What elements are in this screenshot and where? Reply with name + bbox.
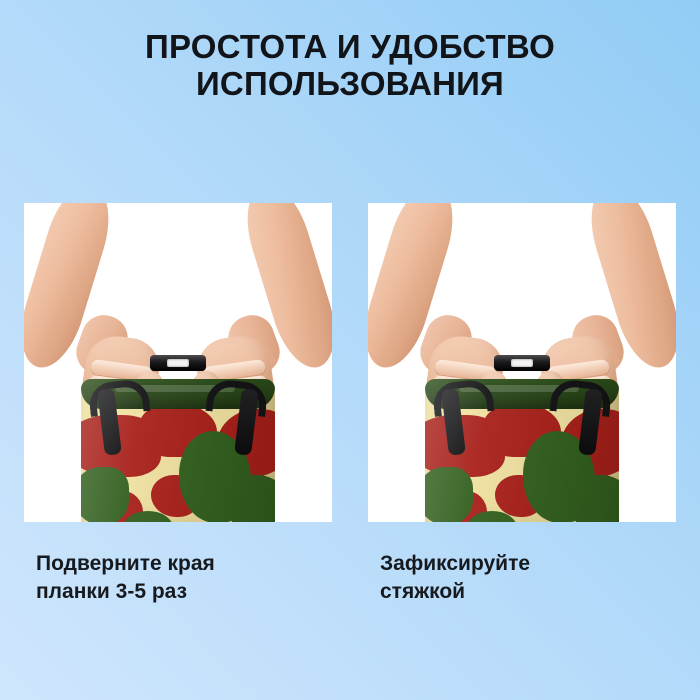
product-photo-step-2 xyxy=(368,203,676,522)
photo-panel-group xyxy=(24,203,676,522)
caption-step-2: Зафиксируйте стяжкой xyxy=(368,550,676,606)
page-title-line-1: ПРОСТОТА И УДОБСТВО xyxy=(0,28,700,65)
caption-step-1: Подверните края планки 3-5 раз xyxy=(24,550,332,606)
page-title-line-2: ИСПОЛЬЗОВАНИЯ xyxy=(0,65,700,102)
buckle-female-icon xyxy=(158,355,206,371)
dry-bag-product xyxy=(81,379,275,522)
dry-bag-product xyxy=(425,379,619,522)
infographic-canvas: ПРОСТОТА И УДОБСТВО ИСПОЛЬЗОВАНИЯ xyxy=(0,0,700,700)
buckle-female-icon xyxy=(502,355,550,371)
page-title: ПРОСТОТА И УДОБСТВО ИСПОЛЬЗОВАНИЯ xyxy=(0,28,700,103)
caption-step-1-line-2: планки 3-5 раз xyxy=(36,578,332,606)
photo-panel-step-1 xyxy=(24,203,332,522)
caption-group: Подверните края планки 3-5 раз Зафиксиру… xyxy=(24,550,676,606)
caption-step-2-line-2: стяжкой xyxy=(380,578,676,606)
caption-step-1-line-1: Подверните края xyxy=(36,550,332,578)
product-photo-step-1 xyxy=(24,203,332,522)
caption-step-2-line-1: Зафиксируйте xyxy=(380,550,676,578)
photo-panel-step-2 xyxy=(368,203,676,522)
